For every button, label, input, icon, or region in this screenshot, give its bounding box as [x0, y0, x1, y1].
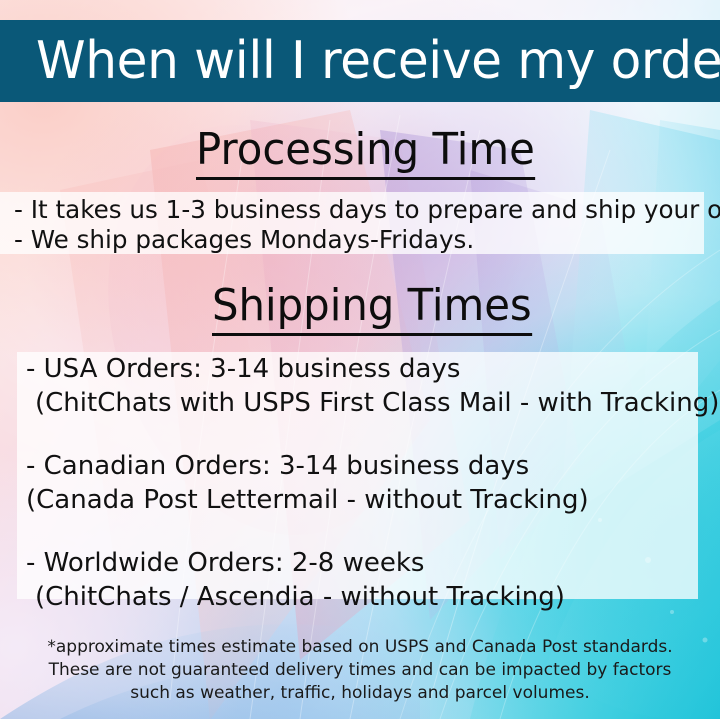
shipping-entry-detail: (ChitChats / Ascendia - without Tracking… [26, 580, 698, 614]
shipping-entry-main: - Worldwide Orders: 2-8 weeks [26, 546, 698, 580]
shipping-times-heading: Shipping Times [212, 284, 532, 336]
shipping-entries-list: - USA Orders: 3-14 business days (ChitCh… [26, 352, 698, 614]
shipping-entry-main: - Canadian Orders: 3-14 business days [26, 449, 698, 483]
footnote-line: These are not guaranteed delivery times … [0, 659, 720, 682]
processing-heading-underline [196, 177, 535, 180]
shipping-entry-detail: (Canada Post Lettermail - without Tracki… [26, 483, 698, 517]
processing-line: - We ship packages Mondays-Fridays. [14, 225, 694, 255]
shipping-entry: - Canadian Orders: 3-14 business days (C… [26, 449, 698, 517]
header-banner: When will I receive my order? [0, 20, 720, 102]
page-title: When will I receive my order? [36, 35, 720, 87]
shipping-times-heading-label: Shipping Times [212, 280, 532, 331]
shipping-entry: - Worldwide Orders: 2-8 weeks (ChitChats… [26, 546, 698, 614]
shipping-entry-detail: (ChitChats with USPS First Class Mail - … [26, 386, 698, 420]
processing-line: - It takes us 1-3 business days to prepa… [14, 195, 694, 225]
shipping-info-graphic: When will I receive my order? Processing… [0, 0, 720, 719]
footnote-line: *approximate times estimate based on USP… [0, 636, 720, 659]
shipping-entry-main: - USA Orders: 3-14 business days [26, 352, 698, 386]
shipping-heading-underline [212, 333, 532, 336]
footnote-line: such as weather, traffic, holidays and p… [0, 682, 720, 705]
processing-time-heading: Processing Time [196, 128, 535, 180]
shipping-entry: - USA Orders: 3-14 business days (ChitCh… [26, 352, 698, 420]
footnote-disclaimer: *approximate times estimate based on USP… [0, 636, 720, 705]
processing-time-heading-label: Processing Time [196, 124, 535, 175]
processing-time-lines: - It takes us 1-3 business days to prepa… [14, 195, 694, 255]
